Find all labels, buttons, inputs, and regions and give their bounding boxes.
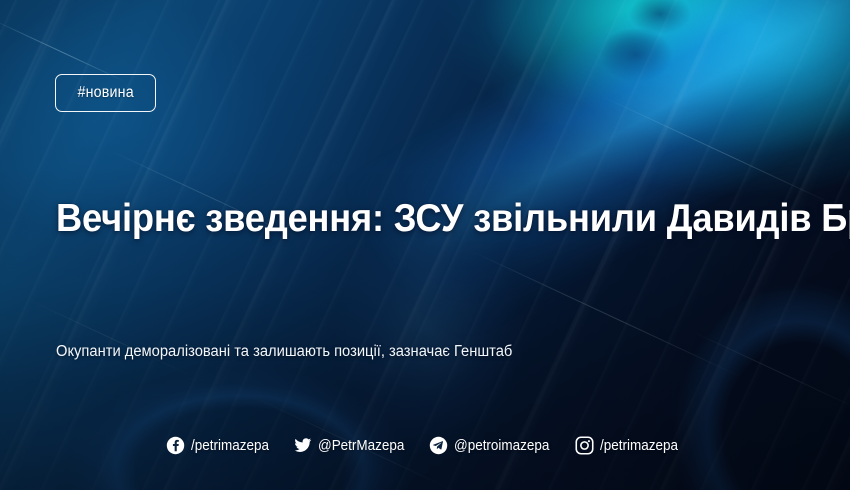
social-handle-facebook: /petrimazepa <box>191 438 269 454</box>
telegram-icon <box>429 436 448 455</box>
social-link-twitter[interactable]: @PetrMazepa <box>293 436 411 455</box>
social-link-facebook[interactable]: /petrimazepa <box>166 436 275 455</box>
tag-badge[interactable]: #новина <box>55 74 156 112</box>
instagram-icon <box>575 436 594 455</box>
social-link-telegram[interactable]: @petroimazepa <box>429 436 557 455</box>
facebook-icon <box>166 436 185 455</box>
social-links-row: /petrimazepa @PetrMazepa @petroimaz <box>0 436 850 455</box>
banner-content: #новина Вечірнє зведення: ЗСУ звільнили … <box>0 0 850 490</box>
social-handle-telegram: @petroimazepa <box>454 438 549 454</box>
twitter-icon <box>293 436 312 455</box>
news-banner-card: #новина Вечірнє зведення: ЗСУ звільнили … <box>0 0 850 490</box>
subtitle-text: Окупанти деморалізовані та залишають поз… <box>56 341 759 363</box>
social-handle-twitter: @PetrMazepa <box>318 438 404 454</box>
social-handle-instagram: /petrimazepa <box>600 438 678 454</box>
tag-badge-label: #новина <box>77 84 133 102</box>
page-title: Вечірнє зведення: ЗСУ звільнили Давидів … <box>56 196 763 242</box>
social-link-instagram[interactable]: /petrimazepa <box>575 436 684 455</box>
